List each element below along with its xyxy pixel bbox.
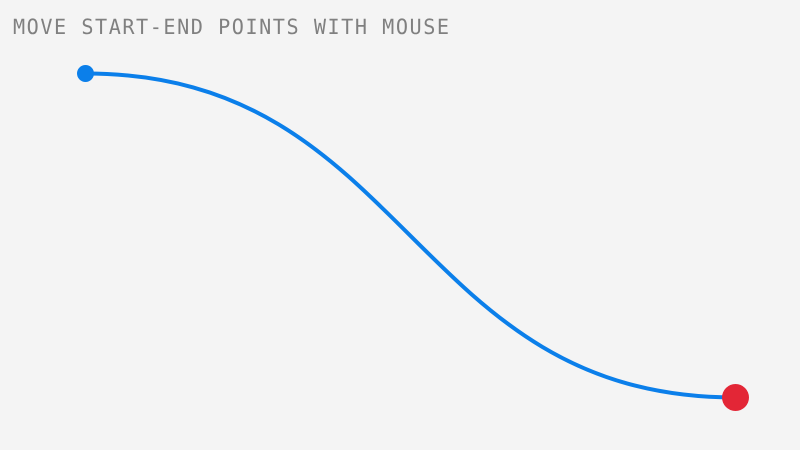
curve-canvas[interactable] xyxy=(0,0,800,450)
app-root: MOVE START-END POINTS WITH MOUSE xyxy=(0,0,800,450)
start-point-handle[interactable] xyxy=(77,65,94,82)
end-point-handle[interactable] xyxy=(722,384,749,411)
bezier-curve xyxy=(86,74,736,398)
